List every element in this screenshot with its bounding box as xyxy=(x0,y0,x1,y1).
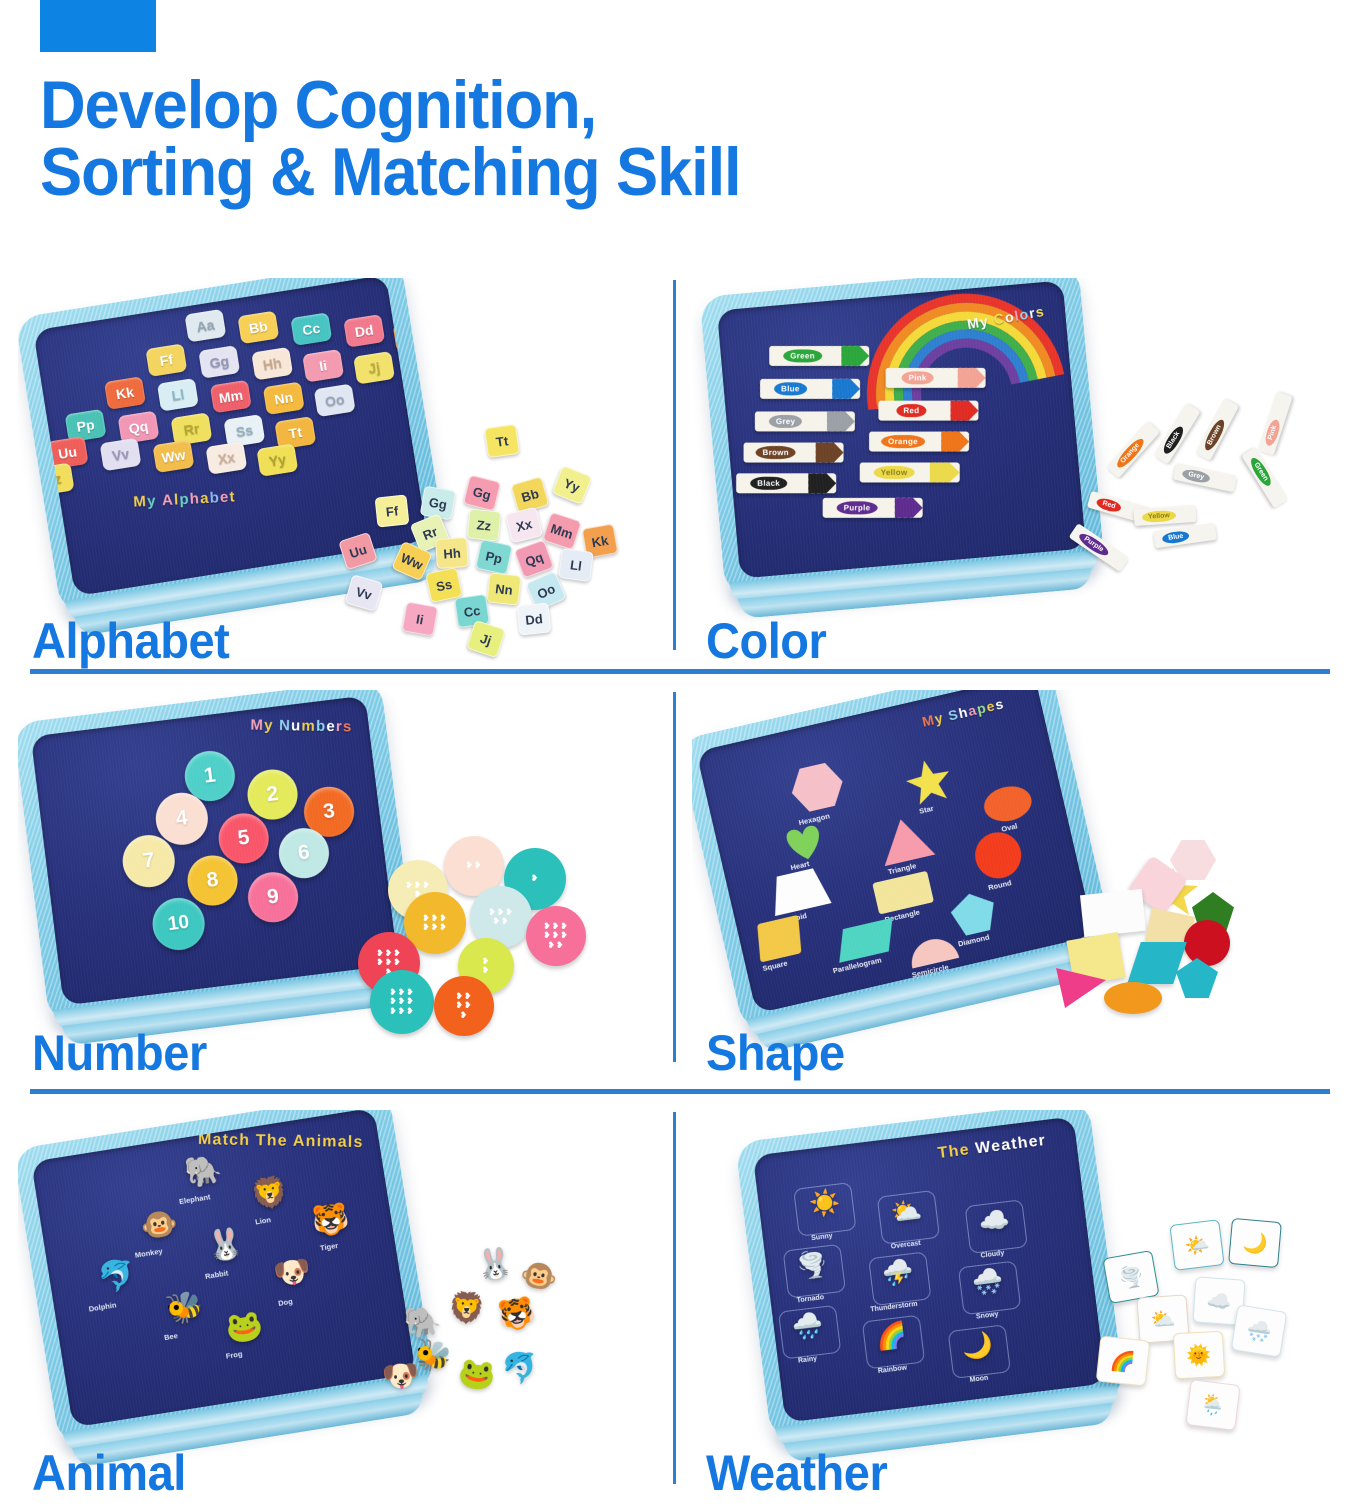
crayon-label: Purple xyxy=(837,501,878,514)
weather-card-moon[interactable]: 🌙 xyxy=(1228,1218,1282,1268)
animal-sticker-elephant[interactable]: 🐘 xyxy=(403,1306,443,1340)
letter-tile[interactable]: Nn xyxy=(487,572,522,605)
weather-icon-rainbow[interactable]: 🌈 xyxy=(874,1322,908,1351)
weather-label-snowy: Snowy xyxy=(976,1311,999,1321)
weather-card-sunny[interactable]: 🌤️ xyxy=(1169,1219,1224,1271)
shape-trapezoid[interactable] xyxy=(767,866,832,916)
shape-square[interactable] xyxy=(757,915,801,963)
weather-label-rainy: Rainy xyxy=(798,1355,818,1364)
letter-tile[interactable]: Gg xyxy=(463,475,501,512)
number-circle-10[interactable]: 10 xyxy=(150,895,208,953)
animal-sticker-lion[interactable]: 🦁 xyxy=(447,1293,486,1326)
felt-shape-square-white[interactable] xyxy=(1080,889,1146,937)
weather-icon-overcast[interactable]: ⛅ xyxy=(889,1198,923,1227)
animal-bee[interactable]: 🐝 xyxy=(164,1291,206,1326)
category-label-number: Number xyxy=(32,1024,207,1082)
weather-icon-snowy[interactable]: 🌨️ xyxy=(971,1268,1005,1297)
animal-dolphin[interactable]: 🐬 xyxy=(96,1259,138,1294)
weather-card-rainy[interactable]: 🌦️ xyxy=(1185,1379,1240,1431)
category-label-animal: Animal xyxy=(32,1444,186,1502)
animal-tiger[interactable]: 🐯 xyxy=(310,1203,352,1238)
crayon-label: Green xyxy=(783,349,822,362)
crayon-piece-purple[interactable]: Purple xyxy=(1069,523,1130,572)
crayon-label: Brown xyxy=(756,446,796,459)
letter-tile[interactable]: Mm xyxy=(542,512,582,550)
weather-label-cloudy: Cloudy xyxy=(980,1250,1004,1260)
animal-label-monkey: Monkey xyxy=(134,1246,163,1259)
weather-cell[interactable] xyxy=(862,1315,925,1370)
crayon-label: Grey xyxy=(769,415,802,428)
letter-tile[interactable]: Xx xyxy=(505,507,543,544)
animal-sticker-rabbit[interactable]: 🐰 xyxy=(474,1248,515,1283)
weather-label-sunny: Sunny xyxy=(811,1233,833,1243)
animal-sticker-monkey[interactable]: 🐵 xyxy=(518,1259,560,1295)
shape-hexagon[interactable] xyxy=(787,760,848,815)
alphabet-tile[interactable]: Rr xyxy=(170,412,212,446)
number-circle-4[interactable]: 4 xyxy=(153,790,211,848)
panel-color: My Colors Green Blue xyxy=(692,278,1345,678)
divider-vertical xyxy=(673,692,676,1062)
animal-label-bee: Bee xyxy=(163,1331,178,1342)
crayon-piece-yellow[interactable]: Yellow xyxy=(1133,505,1196,526)
color-board: My Colors Green Blue xyxy=(717,280,1086,578)
animal-frog[interactable]: 🐸 xyxy=(223,1310,265,1345)
brand-accent-square xyxy=(40,0,156,52)
weather-cell[interactable] xyxy=(958,1261,1021,1316)
header: Develop Cognition, Sorting & Matching Sk… xyxy=(0,0,1355,272)
number-loose-pieces: ❥❥ ❥ ❥❥❥❥ ❥❥❥❥❥ ❥❥❥❥❥❥ ❥❥❥❥❥❥❥❥ ❥❥ ❥❥❥❥❥… xyxy=(348,830,618,1030)
crayon-piece-pink[interactable]: Pink xyxy=(1257,391,1292,455)
crayon-red[interactable]: Red xyxy=(878,401,978,421)
category-label-shape: Shape xyxy=(706,1024,845,1082)
letter-tile[interactable]: Yy xyxy=(552,465,593,505)
crayon-black[interactable]: Black xyxy=(736,473,836,493)
shape-star[interactable] xyxy=(900,753,957,809)
animal-rabbit[interactable]: 🐰 xyxy=(204,1228,246,1263)
animal-label-dolphin: Dolphin xyxy=(88,1300,117,1313)
letter-tile[interactable]: Zz xyxy=(467,508,502,541)
category-label-weather: Weather xyxy=(706,1444,887,1502)
weather-label-rainbow: Rainbow xyxy=(878,1365,908,1376)
letter-tile[interactable]: Hh xyxy=(435,537,469,569)
page-title: Develop Cognition, Sorting & Matching Sk… xyxy=(40,72,1063,207)
feature-grid: Aa Bb Cc Dd Ee Ff Gg Hh Ii Jj Kk Ll Mm N… xyxy=(0,272,1355,1500)
animal-label-lion: Lion xyxy=(254,1215,271,1226)
alphabet-tile[interactable]: Qq xyxy=(118,411,160,445)
weather-board: The Weather ☀️ Sunny ⛅ Overcast ☁️ Cloud… xyxy=(753,1116,1106,1422)
shape-diamond[interactable] xyxy=(948,889,1000,938)
letter-tile[interactable]: Ii xyxy=(402,601,439,636)
panel-animal: Match The Animals 🐘 Elephant 🦁 Lion 🐵 Mo… xyxy=(18,1110,671,1510)
animal-monkey[interactable]: 🐵 xyxy=(138,1208,180,1243)
shape-label-triangle: Triangle xyxy=(887,861,917,876)
rainbow-graphic xyxy=(839,280,1079,411)
number-circle-7[interactable]: 7 xyxy=(120,832,178,890)
weather-label-thunderstorm: Thunderstorm xyxy=(870,1301,918,1314)
weather-cell[interactable] xyxy=(948,1324,1011,1379)
shape-label-trapezoid: Trapezoid xyxy=(772,911,808,928)
crayon-label: Blue xyxy=(774,382,807,395)
crayon-pink[interactable]: Pink xyxy=(886,368,986,388)
alphabet-tile[interactable]: Yy xyxy=(256,443,298,477)
weather-icon-rainy[interactable]: 🌧️ xyxy=(791,1313,825,1342)
crayon-label: Yellow xyxy=(874,466,915,479)
alphabet-tile[interactable]: Xx xyxy=(205,441,247,475)
panel-shape: My Shapes Hexagon Star Heart Trian xyxy=(692,690,1345,1090)
letter-tile[interactable]: Pp xyxy=(475,539,513,575)
crayon-piece-brown[interactable]: Brown xyxy=(1195,398,1239,461)
number-circle-6[interactable]: 6 xyxy=(276,825,332,881)
weather-icon-sunny[interactable]: ☀️ xyxy=(808,1190,842,1219)
number-book-title: My Numbers xyxy=(250,717,352,736)
shape-label-diamond: Diamond xyxy=(957,932,990,948)
shape-rectangle[interactable] xyxy=(872,871,934,915)
alphabet-tile[interactable]: Jj xyxy=(353,351,395,385)
alphabet-tile[interactable]: Aa xyxy=(184,309,226,343)
alphabet-tile[interactable]: Ww xyxy=(153,439,195,473)
crayon-grey[interactable]: Grey xyxy=(755,411,855,431)
counting-disc[interactable]: ❥❥❥❥❥ xyxy=(434,976,494,1036)
weather-card-snowy[interactable]: 🌨️ xyxy=(1231,1304,1288,1357)
number-circle-1[interactable]: 1 xyxy=(182,748,238,804)
crayon-piece-blue[interactable]: Blue xyxy=(1153,523,1217,548)
shape-book-title: My Shapes xyxy=(920,695,1005,729)
crayon-label: Orange xyxy=(881,435,925,448)
number-circle-2[interactable]: 2 xyxy=(245,767,301,823)
crayon-piece-orange[interactable]: Orange xyxy=(1106,421,1160,478)
alphabet-tile[interactable]: Pp xyxy=(65,409,107,443)
weather-icon-moon[interactable]: 🌙 xyxy=(960,1332,994,1361)
felt-shape-parallelogram[interactable] xyxy=(1127,942,1187,984)
crayon-yellow[interactable]: Yellow xyxy=(860,462,960,482)
color-book[interactable]: My Colors Green Blue xyxy=(700,278,1105,596)
shape-label-heart: Heart xyxy=(790,859,811,872)
category-label-alphabet: Alphabet xyxy=(32,612,229,670)
alphabet-tile[interactable]: Ff xyxy=(145,343,187,377)
crayon-green[interactable]: Green xyxy=(769,346,869,366)
crayon-piece-black[interactable]: Black xyxy=(1153,403,1200,465)
shape-parallelogram[interactable] xyxy=(832,918,900,963)
weather-cell[interactable] xyxy=(868,1251,931,1306)
alphabet-book-title: My Alphabet xyxy=(133,488,236,510)
alphabet-tile[interactable]: Nn xyxy=(263,381,305,415)
weather-cell[interactable] xyxy=(964,1199,1027,1254)
shape-label-star: Star xyxy=(918,804,934,816)
letter-tile[interactable]: Tt xyxy=(484,424,520,458)
animal-sticker-dog[interactable]: 🐶 xyxy=(381,1361,420,1394)
shape-triangle[interactable] xyxy=(875,813,935,866)
weather-card-rainbow[interactable]: 🌈 xyxy=(1096,1336,1151,1387)
letter-tile[interactable]: Ll xyxy=(558,548,594,582)
animal-sticker-tiger[interactable]: 🐯 xyxy=(495,1296,538,1333)
weather-card-thunderstorm[interactable]: 🌞 xyxy=(1173,1331,1225,1380)
alphabet-tile[interactable]: Oo xyxy=(314,384,356,418)
letter-tile[interactable]: Vv xyxy=(344,574,383,612)
number-circle-9[interactable]: 9 xyxy=(245,869,301,925)
panel-weather: The Weather ☀️ Sunny ⛅ Overcast ☁️ Cloud… xyxy=(692,1110,1345,1510)
shape-heart[interactable] xyxy=(777,817,831,866)
alphabet-tile[interactable]: Tt xyxy=(274,416,316,450)
alphabet-tile[interactable]: Mm xyxy=(210,380,252,414)
number-circle-5[interactable]: 5 xyxy=(216,811,272,867)
weather-cell[interactable] xyxy=(778,1305,841,1360)
crayon-purple[interactable]: Purple xyxy=(823,498,923,518)
shape-oval[interactable] xyxy=(981,782,1035,826)
animal-elephant[interactable]: 🐘 xyxy=(183,1154,225,1189)
animal-label-frog: Frog xyxy=(225,1349,243,1360)
crayon-piece-green[interactable]: Green xyxy=(1241,447,1288,509)
number-board: My Numbers 1 2 3 4 5 6 7 8 9 10 xyxy=(31,696,399,1006)
alphabet-tile[interactable]: Ll xyxy=(157,378,199,412)
divider-vertical xyxy=(673,1112,676,1484)
divider-vertical xyxy=(673,280,676,650)
weather-cell[interactable] xyxy=(783,1244,846,1299)
animal-label-rabbit: Rabbit xyxy=(204,1268,228,1281)
crayon-label: Pink xyxy=(902,371,934,384)
weather-icon-tornado[interactable]: 🌪️ xyxy=(795,1252,829,1281)
alphabet-tile[interactable]: Ii xyxy=(302,349,344,383)
panel-number: My Numbers 1 2 3 4 5 6 7 8 9 10 ❥❥ ❥ ❥ xyxy=(18,690,671,1090)
panel-alphabet: Aa Bb Cc Dd Ee Ff Gg Hh Ii Jj Kk Ll Mm N… xyxy=(18,278,671,678)
alphabet-tile[interactable]: Cc xyxy=(290,312,332,346)
weather-cell[interactable] xyxy=(793,1182,856,1237)
crayon-blue[interactable]: Blue xyxy=(760,379,860,399)
felt-shape-round[interactable] xyxy=(1184,920,1230,966)
alphabet-tile[interactable]: Ss xyxy=(223,414,265,448)
category-label-color: Color xyxy=(706,612,826,670)
animal-dog[interactable]: 🐶 xyxy=(272,1256,314,1291)
weather-book[interactable]: The Weather ☀️ Sunny ⛅ Overcast ☁️ Cloud… xyxy=(735,1110,1125,1441)
shape-label-oval: Oval xyxy=(1000,821,1018,833)
letter-tile[interactable]: Uu xyxy=(338,532,378,570)
shape-label-round: Round xyxy=(987,878,1012,892)
crayon-piece-grey[interactable]: Grey xyxy=(1173,463,1237,493)
shape-round[interactable] xyxy=(971,828,1026,883)
alphabet-tile[interactable]: Dd xyxy=(343,314,385,348)
alphabet-tile[interactable]: Kk xyxy=(104,376,146,410)
weather-cell[interactable] xyxy=(877,1190,940,1245)
shape-label-rectangle: Rectangle xyxy=(884,908,921,925)
weather-label-tornado: Tornado xyxy=(796,1294,824,1304)
alphabet-tile[interactable]: Hh xyxy=(251,347,293,381)
shape-label-square: Square xyxy=(762,959,789,973)
felt-shape-oval[interactable] xyxy=(1104,982,1162,1014)
crayon-label: Red xyxy=(896,404,926,417)
counting-disc[interactable]: ❥❥❥❥❥❥❥❥❥ xyxy=(370,970,434,1034)
weather-book-title: The Weather xyxy=(937,1132,1047,1163)
weather-label-overcast: Overcast xyxy=(890,1240,921,1251)
animal-label-elephant: Elephant xyxy=(178,1192,211,1206)
alphabet-tile[interactable]: Vv xyxy=(100,438,142,472)
animal-lion[interactable]: 🦁 xyxy=(249,1176,291,1211)
animal-label-tiger: Tiger xyxy=(319,1241,338,1253)
alphabet-tile[interactable]: Bb xyxy=(237,311,279,345)
number-circle-8[interactable]: 8 xyxy=(185,853,241,909)
crayon-label: Black xyxy=(750,477,787,490)
weather-icon-cloudy[interactable]: ☁️ xyxy=(977,1207,1011,1236)
shape-label-hexagon: Hexagon xyxy=(798,811,831,827)
animal-label-dog: Dog xyxy=(278,1297,294,1308)
color-loose-pieces: Black Brown Pink Orange Grey Green Red Y… xyxy=(1062,403,1332,603)
shape-semicircle[interactable] xyxy=(907,934,959,968)
weather-icon-thunderstorm[interactable]: ⛈️ xyxy=(881,1259,915,1288)
alphabet-tile[interactable]: Gg xyxy=(198,345,240,379)
counting-disc[interactable]: ❥❥❥❥❥❥❥❥ xyxy=(526,906,586,966)
shape-label-parallelogram: Parallelogram xyxy=(832,955,882,975)
letter-tile[interactable]: Ff xyxy=(375,494,410,527)
crayon-brown[interactable]: Brown xyxy=(744,443,844,463)
letter-tile[interactable]: Dd xyxy=(517,602,552,635)
animal-book-title: Match The Animals xyxy=(198,1131,364,1152)
animal-sticker-frog[interactable]: 🐸 xyxy=(456,1358,497,1393)
animal-loose-pieces: 🐰 🐵 🦁 🐯 🐘 🐝 🐶 🐸 🐬 xyxy=(348,1250,628,1460)
alphabet-loose-pieces: Tt Gg Bb Yy Ff Gg Rr Zz Xx Mm Kk Uu Ww H… xyxy=(318,418,628,648)
crayon-orange[interactable]: Orange xyxy=(869,432,969,452)
shape-loose-pieces xyxy=(1042,840,1322,1040)
color-book-title: My Colors xyxy=(966,303,1046,332)
weather-loose-pieces: 🌤️ 🌙 🌪️ ☁️ ⛅ 🌨️ 🌈 🌞 🌦️ xyxy=(1082,1220,1332,1450)
weather-label-moon: Moon xyxy=(969,1375,988,1384)
animal-sticker-dolphin[interactable]: 🐬 xyxy=(500,1351,542,1387)
